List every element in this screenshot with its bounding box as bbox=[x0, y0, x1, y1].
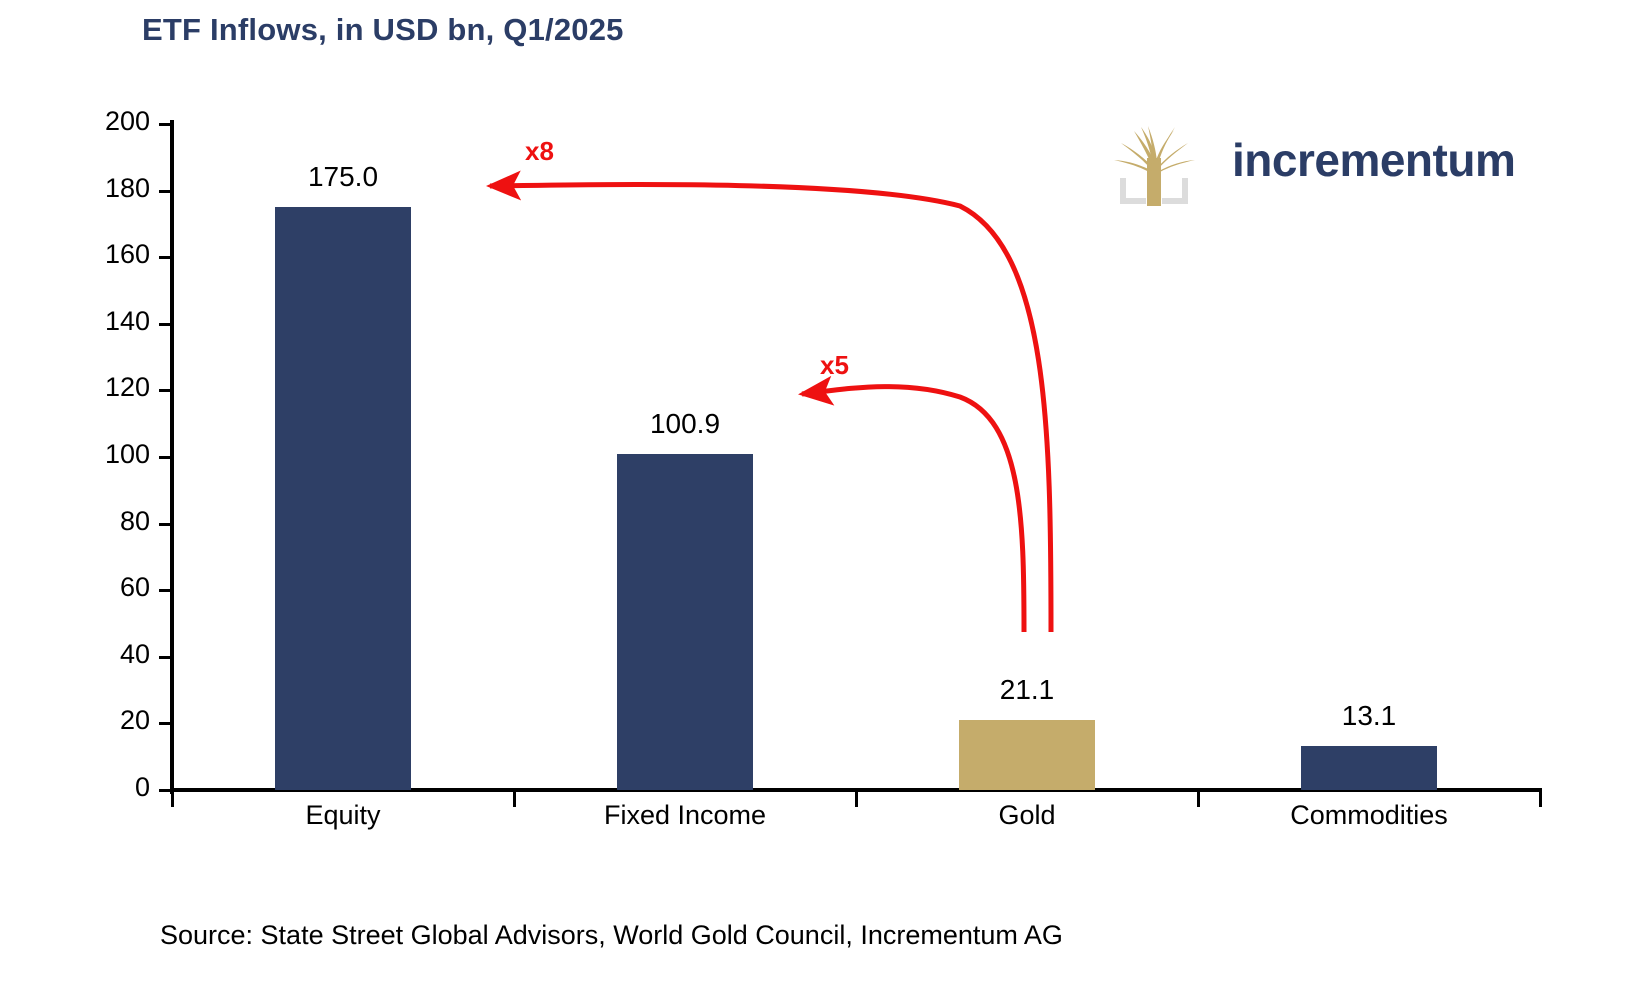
x-category-label-commodities: Commodities bbox=[1209, 800, 1529, 831]
y-tick-label: 80 bbox=[88, 508, 150, 535]
y-tick-mark bbox=[159, 190, 172, 193]
y-tick-mark bbox=[159, 256, 172, 259]
incrementum-logo: incrementum bbox=[1106, 112, 1515, 208]
tree-logo-icon bbox=[1106, 112, 1202, 208]
logo-wordmark: incrementum bbox=[1232, 137, 1515, 183]
bar-value-label: 21.1 bbox=[937, 674, 1117, 706]
y-tick-label: 40 bbox=[88, 641, 150, 668]
bar-value-label: 100.9 bbox=[595, 408, 775, 440]
y-tick-mark bbox=[159, 523, 172, 526]
x-tick-mark bbox=[1197, 791, 1200, 807]
y-tick-label: 60 bbox=[88, 574, 150, 601]
y-tick-label: 20 bbox=[88, 707, 150, 734]
y-tick-label: 120 bbox=[88, 374, 150, 401]
bar-equity[interactable] bbox=[275, 207, 412, 790]
y-tick-label: 0 bbox=[88, 774, 150, 801]
x-tick-mark bbox=[1539, 791, 1542, 807]
y-tick-mark bbox=[159, 722, 172, 725]
annotation-arrow-x5 bbox=[802, 387, 1024, 632]
bar-value-label: 13.1 bbox=[1279, 700, 1459, 732]
bar-value-label: 175.0 bbox=[253, 161, 433, 193]
annotation-label-x8: x8 bbox=[525, 136, 554, 167]
x-category-label-fixed-income: Fixed Income bbox=[525, 800, 845, 831]
x-tick-mark bbox=[855, 791, 858, 807]
y-tick-label: 160 bbox=[88, 241, 150, 268]
source-note: Source: State Street Global Advisors, Wo… bbox=[160, 920, 1063, 951]
bar-commodities[interactable] bbox=[1301, 746, 1438, 790]
y-tick-label: 200 bbox=[88, 108, 150, 135]
annotation-label-x5: x5 bbox=[820, 350, 849, 381]
y-tick-mark bbox=[159, 456, 172, 459]
x-category-label-gold: Gold bbox=[867, 800, 1187, 831]
y-tick-mark bbox=[159, 656, 172, 659]
y-tick-mark bbox=[159, 323, 172, 326]
bar-gold[interactable] bbox=[959, 720, 1096, 790]
y-tick-label: 180 bbox=[88, 175, 150, 202]
page-title: ETF Inflows, in USD bn, Q1/2025 bbox=[142, 12, 624, 48]
y-tick-mark bbox=[159, 389, 172, 392]
chart-canvas: ETF Inflows, in USD bn, Q1/2025 bbox=[0, 0, 1644, 1000]
y-tick-label: 100 bbox=[88, 441, 150, 468]
x-tick-mark bbox=[513, 791, 516, 807]
bar-fixed-income[interactable] bbox=[617, 454, 754, 790]
y-tick-label: 140 bbox=[88, 308, 150, 335]
y-tick-mark bbox=[159, 589, 172, 592]
y-tick-mark bbox=[159, 123, 172, 126]
x-category-label-equity: Equity bbox=[183, 800, 503, 831]
x-tick-mark bbox=[171, 791, 174, 807]
